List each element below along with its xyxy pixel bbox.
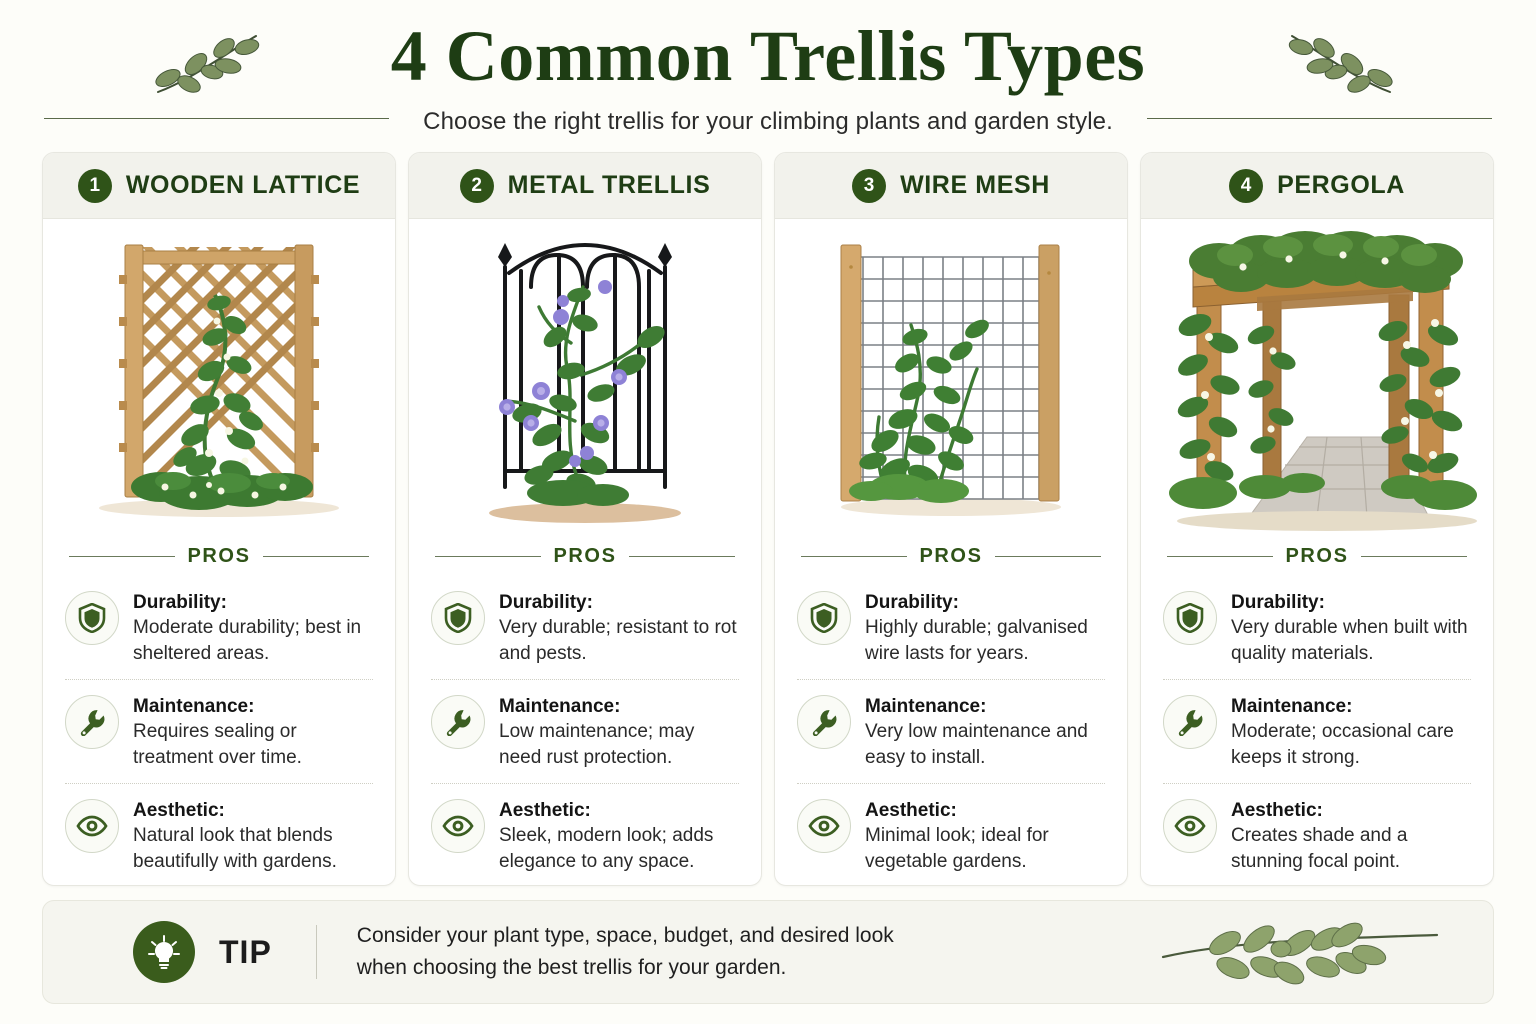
wrench-icon (797, 695, 851, 749)
feature-description: Very low maintenance and easy to install… (865, 719, 1105, 770)
pros-line-left (801, 556, 907, 557)
pros-divider: PROS (409, 539, 761, 570)
wrench-icon (65, 695, 119, 749)
tip-bar: TIP Consider your plant type, space, bud… (42, 900, 1494, 1004)
wrench-icon (1163, 695, 1217, 749)
leaf-branch-icon (1155, 913, 1445, 992)
trellis-card-metal-trellis[interactable]: 2 METAL TRELLIS (408, 152, 762, 886)
trellis-card-pergola[interactable]: 4 PERGOLA (1140, 152, 1494, 886)
card-number-badge: 4 (1229, 169, 1263, 203)
card-title: METAL TRELLIS (508, 171, 711, 200)
card-header: 2 METAL TRELLIS (409, 153, 761, 219)
metal-trellis-illustration (409, 219, 761, 539)
shield-icon (431, 591, 485, 645)
eye-icon (1163, 799, 1217, 853)
feature-label: Maintenance: (133, 694, 373, 719)
lightbulb-icon (133, 921, 195, 983)
card-header: 3 WIRE MESH (775, 153, 1127, 219)
feature-maintenance: Maintenance: Very low maintenance and ea… (797, 679, 1105, 783)
tip-text-line-2: when choosing the best trellis for your … (357, 952, 894, 984)
feature-aesthetic: Aesthetic: Sleek, modern look; adds eleg… (431, 783, 739, 886)
feature-list: Durability: Very durable; resistant to r… (409, 570, 761, 886)
infographic-page: 4 Common Trellis Types Choose the right … (0, 0, 1536, 1024)
card-number-badge: 2 (460, 169, 494, 203)
feature-label: Maintenance: (499, 694, 739, 719)
feature-description: Low maintenance; may need rust protectio… (499, 719, 739, 770)
feature-label: Durability: (865, 590, 1105, 615)
eye-icon (431, 799, 485, 853)
feature-aesthetic: Aesthetic: Minimal look; ideal for veget… (797, 783, 1105, 886)
leaf-sprig-icon-right (1284, 22, 1396, 105)
page-subtitle: Choose the right trellis for your climbi… (0, 108, 1536, 136)
feature-label: Durability: (133, 590, 373, 615)
tip-text-line-1: Consider your plant type, space, budget,… (357, 920, 894, 952)
pros-label: PROS (1285, 545, 1348, 568)
feature-label: Durability: (1231, 590, 1471, 615)
feature-label: Aesthetic: (499, 798, 739, 823)
pros-line-right (263, 556, 369, 557)
pros-divider: PROS (43, 539, 395, 570)
feature-label: Maintenance: (865, 694, 1105, 719)
wire-mesh-illustration (775, 219, 1127, 539)
feature-label: Durability: (499, 590, 739, 615)
feature-aesthetic: Aesthetic: Creates shade and a stunning … (1163, 783, 1471, 886)
card-number-badge: 1 (78, 169, 112, 203)
feature-durability: Durability: Highly durable; galvanised w… (797, 576, 1105, 679)
card-header: 4 PERGOLA (1141, 153, 1493, 219)
feature-description: Very durable; resistant to rot and pests… (499, 615, 739, 666)
feature-description: Moderate; occasional care keeps it stron… (1231, 719, 1471, 770)
wrench-icon (431, 695, 485, 749)
card-header: 1 WOODEN LATTICE (43, 153, 395, 219)
eye-icon (797, 799, 851, 853)
feature-label: Aesthetic: (133, 798, 373, 823)
feature-label: Aesthetic: (1231, 798, 1471, 823)
feature-description: Moderate durability; best in sheltered a… (133, 615, 373, 666)
pros-divider: PROS (1141, 539, 1493, 570)
pros-line-right (1361, 556, 1467, 557)
trellis-card-wire-mesh[interactable]: 3 WIRE MESH (774, 152, 1128, 886)
card-title: PERGOLA (1277, 171, 1405, 200)
feature-maintenance: Maintenance: Requires sealing or treatme… (65, 679, 373, 783)
feature-maintenance: Maintenance: Moderate; occasional care k… (1163, 679, 1471, 783)
feature-description: Creates shade and a stunning focal point… (1231, 823, 1471, 874)
feature-description: Sleek, modern look; adds elegance to any… (499, 823, 739, 874)
trellis-card-list: 1 WOODEN LATTICE (42, 152, 1494, 886)
pros-line-left (1167, 556, 1273, 557)
pros-line-left (69, 556, 175, 557)
feature-maintenance: Maintenance: Low maintenance; may need r… (431, 679, 739, 783)
pergola-illustration (1141, 219, 1493, 539)
tip-text: Consider your plant type, space, budget,… (357, 920, 894, 984)
card-number-badge: 3 (852, 169, 886, 203)
feature-list: Durability: Moderate durability; best in… (43, 570, 395, 886)
eye-icon (65, 799, 119, 853)
feature-description: Highly durable; galvanised wire lasts fo… (865, 615, 1105, 666)
shield-icon (1163, 591, 1217, 645)
tip-divider (316, 925, 317, 979)
pros-label: PROS (187, 545, 250, 568)
pros-label: PROS (553, 545, 616, 568)
feature-label: Maintenance: (1231, 694, 1471, 719)
header: 4 Common Trellis Types Choose the right … (0, 0, 1536, 142)
card-title: WIRE MESH (900, 171, 1050, 200)
pros-line-right (629, 556, 735, 557)
shield-icon (797, 591, 851, 645)
feature-durability: Durability: Very durable when built with… (1163, 576, 1471, 679)
feature-description: Requires sealing or treatment over time. (133, 719, 373, 770)
feature-description: Minimal look; ideal for vegetable garden… (865, 823, 1105, 874)
feature-aesthetic: Aesthetic: Natural look that blends beau… (65, 783, 373, 886)
feature-label: Aesthetic: (865, 798, 1105, 823)
feature-durability: Durability: Moderate durability; best in… (65, 576, 373, 679)
feature-description: Natural look that blends beautifully wit… (133, 823, 373, 874)
card-title: WOODEN LATTICE (126, 171, 360, 200)
trellis-card-wooden-lattice[interactable]: 1 WOODEN LATTICE (42, 152, 396, 886)
wooden-lattice-illustration (43, 219, 395, 539)
feature-list: Durability: Highly durable; galvanised w… (775, 570, 1127, 886)
feature-description: Very durable when built with quality mat… (1231, 615, 1471, 666)
pros-divider: PROS (775, 539, 1127, 570)
tip-label: TIP (219, 934, 272, 971)
feature-durability: Durability: Very durable; resistant to r… (431, 576, 739, 679)
feature-list: Durability: Very durable when built with… (1141, 570, 1493, 886)
pros-line-right (995, 556, 1101, 557)
pros-line-left (435, 556, 541, 557)
pros-label: PROS (919, 545, 982, 568)
shield-icon (65, 591, 119, 645)
